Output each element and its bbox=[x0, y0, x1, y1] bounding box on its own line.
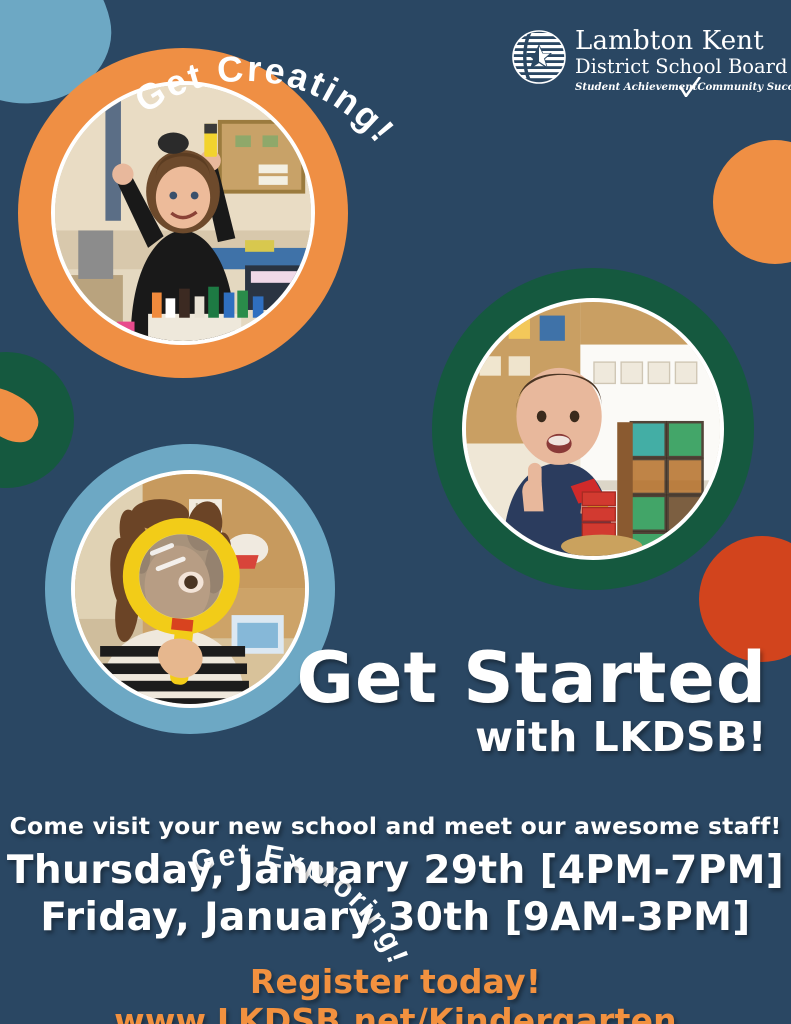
photo-boy-building bbox=[462, 298, 724, 560]
photo-girl-crafting bbox=[51, 81, 315, 345]
decor-blob-green-left bbox=[0, 352, 74, 488]
logo-tagline-right: Community Success bbox=[697, 81, 791, 93]
logo-tagline: Student AchievementCommunity Success bbox=[575, 82, 791, 92]
lkdsb-logo: Lambton Kent District School Board Stude… bbox=[512, 28, 774, 106]
event-date-friday: Friday, January 30th [9AM-3PM] bbox=[0, 895, 791, 940]
logo-line-2: District School Board bbox=[575, 57, 791, 77]
invite-text: Come visit your new school and meet our … bbox=[0, 812, 791, 840]
page-subtitle: with LKDSB! bbox=[0, 716, 767, 759]
page-title: Get Started bbox=[0, 645, 767, 712]
logo-line-1: Lambton Kent bbox=[575, 28, 791, 54]
decor-blob-orange-bottom-left bbox=[0, 378, 46, 450]
logo-wordmark: Lambton Kent District School Board Stude… bbox=[575, 28, 791, 92]
decor-blob-orange-right bbox=[713, 140, 791, 264]
checkmark-icon bbox=[679, 77, 701, 97]
lkdsb-crest-icon bbox=[512, 30, 566, 84]
event-date-thursday: Thursday, January 29th [4PM-7PM] bbox=[0, 848, 791, 893]
register-link[interactable]: Register today! www.LKDSB.net/Kindergart… bbox=[0, 962, 791, 1024]
poster-canvas: Lambton Kent District School Board Stude… bbox=[0, 0, 791, 1024]
photo-circle-building: Get Building! bbox=[432, 268, 754, 590]
photo-circle-creating: Get Creating! bbox=[18, 48, 348, 378]
headline-block: Get Started with LKDSB! bbox=[0, 645, 767, 759]
